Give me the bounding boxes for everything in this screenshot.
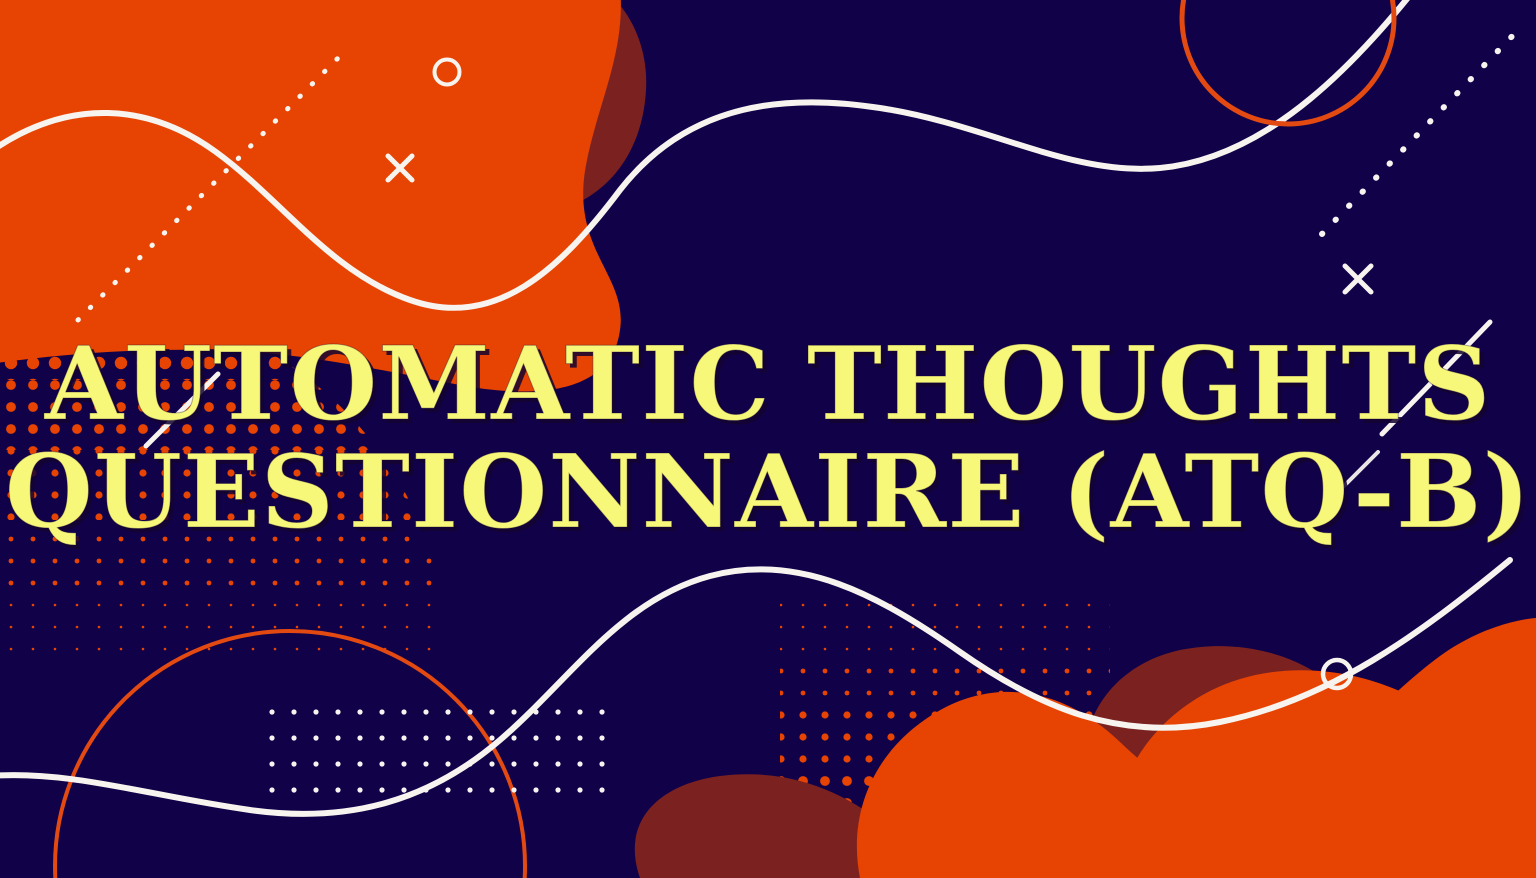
presentation-slide: AUTOMATIC THOUGHTS QUESTIONNAIRE (ATQ-B) <box>0 0 1536 878</box>
decorative-background <box>0 0 1536 878</box>
